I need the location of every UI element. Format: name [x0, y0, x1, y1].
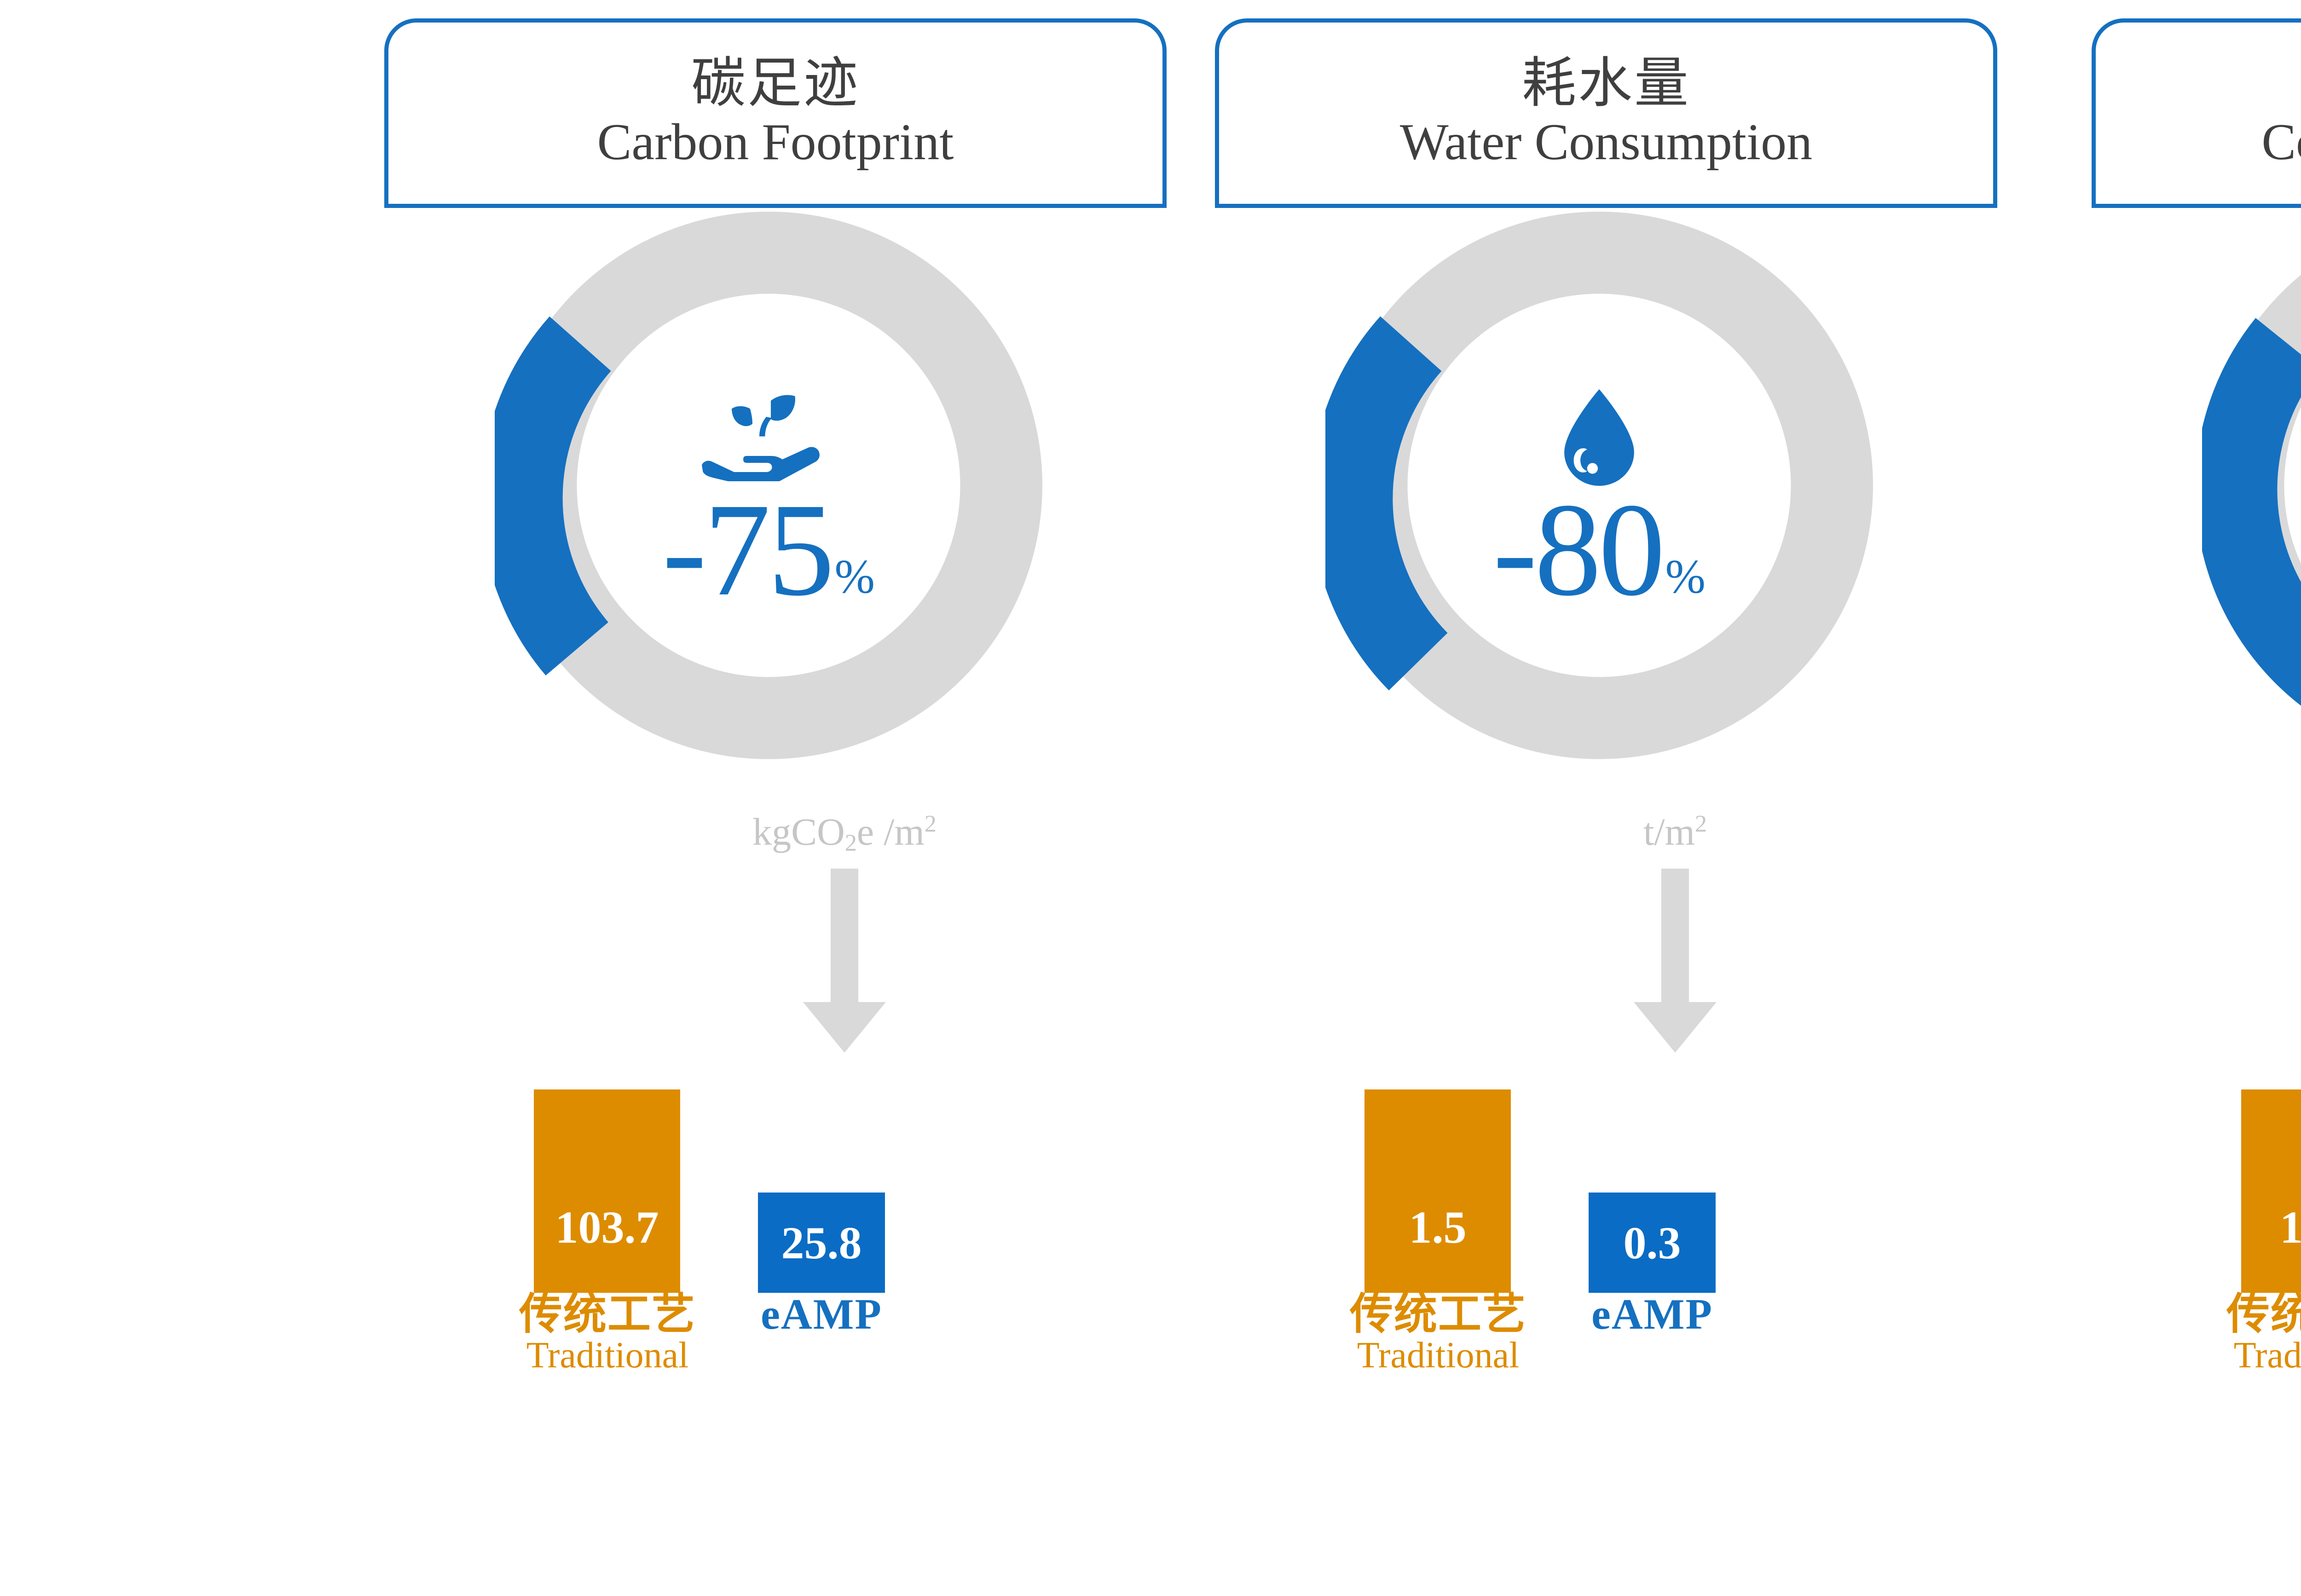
bar-label-traditional-cn: 传统工艺 [1346, 1293, 1530, 1337]
donut-gauge: -80 % [1325, 212, 1873, 759]
bar-label-traditional-en: Traditional [515, 1337, 700, 1375]
bar-label-eamp: eAMP [748, 1293, 895, 1337]
bar-label-traditional-en: Traditional [2223, 1337, 2301, 1375]
card-header: 耗水量 Water Consumption [1215, 18, 1997, 208]
metric-card-copper-consumption: 铜损耗 Copper Consumption -70 % [2092, 0, 2301, 1426]
bar-label-traditional: 传统工艺 Traditional [515, 1293, 700, 1374]
card-title-cn: 耗水量 [1522, 56, 1690, 111]
donut-chart-svg [1325, 212, 1873, 759]
bar-value-eamp: 0.3 [1589, 1220, 1716, 1266]
card-title-en: Water Consumption [1400, 115, 1812, 170]
bar-label-traditional-cn: 传统工艺 [2223, 1293, 2301, 1337]
donut-gauge: -75 % [495, 212, 1042, 759]
bar-traditional: 1.5 [1364, 1089, 1511, 1293]
bar-label-eamp-cn: eAMP [1578, 1293, 1726, 1337]
donut-chart-svg [2202, 212, 2301, 759]
donut-gauge: -70 % [2202, 212, 2301, 759]
donut-chart-svg [495, 212, 1042, 759]
bar-label-traditional: 传统工艺 Traditional [1346, 1293, 1530, 1374]
bar-value-traditional: 1.5 [1364, 1204, 1511, 1250]
bar-value-traditional: 103.7 [534, 1204, 680, 1250]
down-arrow-icon [1634, 869, 1717, 1053]
bar-label-eamp: eAMP [1578, 1293, 1726, 1337]
card-header: 铜损耗 Copper Consumption [2092, 18, 2301, 208]
bar-value-eamp: 25.8 [758, 1220, 885, 1266]
card-title-en: Copper Consumption [2261, 115, 2301, 170]
bar-label-traditional-en: Traditional [1346, 1337, 1530, 1375]
bar-label-traditional: 传统工艺 Traditional [2223, 1293, 2301, 1374]
bar-comparison-group: kgCO2e /m2 103.7 25.8 传统工艺 Traditional e… [384, 764, 1167, 1293]
card-header: 碳足迹 Carbon Footprint [384, 18, 1167, 208]
bar-eamp: 0.3 [1589, 1193, 1716, 1293]
infographic-board: 碳足迹 Carbon Footprint -75 [0, 0, 2301, 1596]
unit-label: t/m2 [1532, 810, 1818, 854]
bar-comparison-group: t/m2 1.5 0.3 传统工艺 Traditional eAMP [1215, 764, 1997, 1293]
card-title-en: Carbon Footprint [597, 115, 954, 170]
bar-comparison-group: g/m2 161 55 传统工艺 Traditional eAMP [2092, 764, 2301, 1293]
unit-label: kgCO2e /m2 [702, 810, 987, 857]
bar-traditional: 103.7 [534, 1089, 680, 1293]
bar-label-eamp-cn: eAMP [748, 1293, 895, 1337]
down-arrow-icon [803, 869, 886, 1053]
bar-traditional: 161 [2241, 1089, 2301, 1293]
metric-card-carbon-footprint: 碳足迹 Carbon Footprint -75 [384, 0, 1167, 1426]
bar-label-traditional-cn: 传统工艺 [515, 1293, 700, 1337]
card-title-cn: 碳足迹 [691, 56, 860, 111]
bar-value-traditional: 161 [2241, 1204, 2301, 1250]
metric-card-water-consumption: 耗水量 Water Consumption -80 % [1215, 0, 1997, 1426]
bar-eamp: 25.8 [758, 1193, 885, 1293]
